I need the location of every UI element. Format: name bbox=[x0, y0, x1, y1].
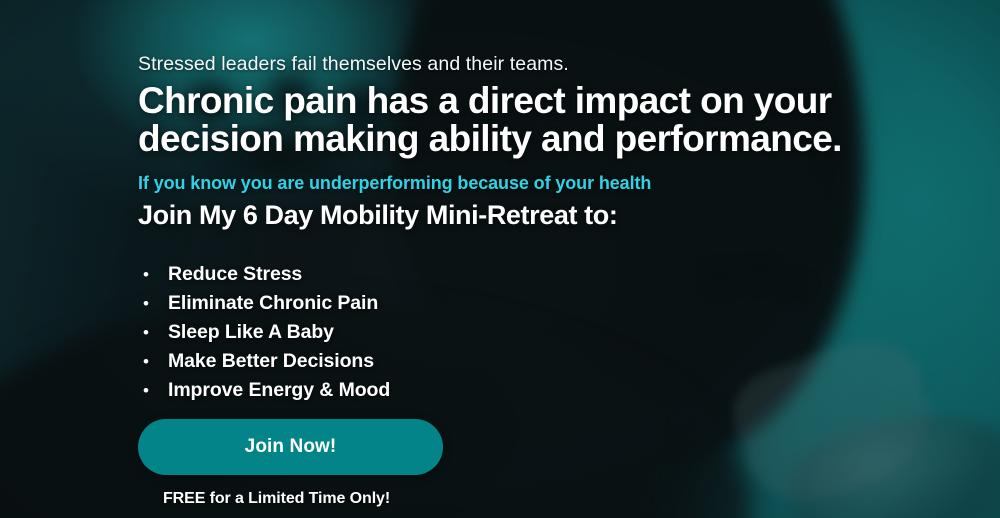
headline-line-1: Chronic pain has a direct impact on your bbox=[138, 82, 928, 120]
headline-line-2: decision making ability and performance. bbox=[138, 120, 928, 158]
bullet-icon: • bbox=[138, 347, 168, 376]
benefits-list: • Reduce Stress • Eliminate Chronic Pain… bbox=[138, 260, 390, 405]
list-item: • Eliminate Chronic Pain bbox=[138, 289, 390, 318]
page-title: Chronic pain has a direct impact on your… bbox=[138, 82, 928, 158]
join-now-button[interactable]: Join Now! bbox=[138, 419, 443, 475]
list-item: • Reduce Stress bbox=[138, 260, 390, 289]
benefit-label: Improve Energy & Mood bbox=[168, 376, 390, 405]
bullet-icon: • bbox=[138, 376, 168, 405]
hero-qualifier-text: If you know you are underperforming beca… bbox=[138, 173, 651, 194]
list-item: • Make Better Decisions bbox=[138, 347, 390, 376]
benefit-label: Sleep Like A Baby bbox=[168, 318, 334, 347]
benefit-label: Eliminate Chronic Pain bbox=[168, 289, 378, 318]
bullet-icon: • bbox=[138, 260, 168, 289]
bullet-icon: • bbox=[138, 289, 168, 318]
hero-content: Stressed leaders fail themselves and the… bbox=[138, 0, 958, 518]
bullet-icon: • bbox=[138, 318, 168, 347]
list-item: • Sleep Like A Baby bbox=[138, 318, 390, 347]
benefit-label: Make Better Decisions bbox=[168, 347, 374, 376]
list-item: • Improve Energy & Mood bbox=[138, 376, 390, 405]
benefit-label: Reduce Stress bbox=[168, 260, 302, 289]
hero-subheading: Join My 6 Day Mobility Mini-Retreat to: bbox=[138, 200, 617, 231]
hero-eyebrow-text: Stressed leaders fail themselves and the… bbox=[138, 53, 569, 76]
hero-section: Stressed leaders fail themselves and the… bbox=[0, 0, 1000, 518]
free-offer-note: FREE for a Limited Time Only! bbox=[163, 490, 390, 508]
